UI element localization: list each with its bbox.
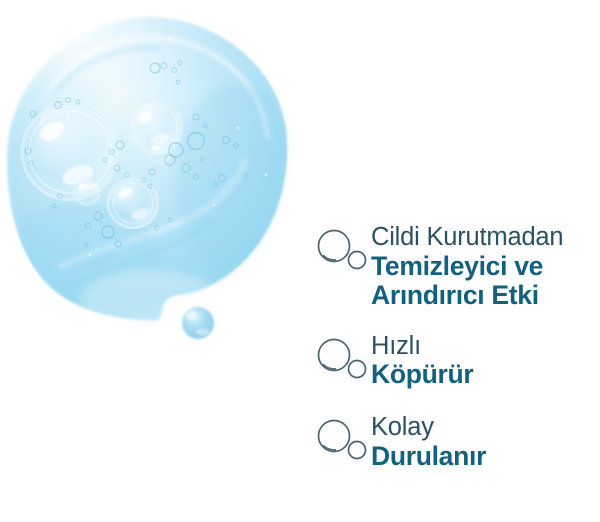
benefit-item-foaming: Hızlı Köpürür bbox=[313, 331, 600, 390]
benefit-regular-line: Hızlı bbox=[371, 332, 600, 361]
gel-droplet-illustration bbox=[0, 0, 300, 360]
product-benefits-poster: Cildi Kurutmadan Temizleyici ve Arındırı… bbox=[0, 0, 600, 522]
benefits-list: Cildi Kurutmadan Temizleyici ve Arındırı… bbox=[313, 222, 600, 471]
benefit-bold-line-2: Arındırıcı Etki bbox=[371, 281, 600, 311]
benefit-item-rinsing: Kolay Durulanır bbox=[313, 412, 600, 471]
benefit-regular-line: Kolay bbox=[371, 413, 600, 442]
benefit-text-block: Cildi Kurutmadan Temizleyici ve Arındırı… bbox=[371, 222, 600, 311]
bubbles-icon bbox=[313, 419, 369, 461]
benefit-regular-line: Cildi Kurutmadan bbox=[371, 223, 600, 252]
droplet-body bbox=[0, 0, 300, 330]
benefit-bold-line-1: Temizleyici ve bbox=[371, 252, 600, 282]
benefit-bold-line-1: Durulanır bbox=[371, 442, 600, 472]
bubbles-icon bbox=[313, 338, 369, 380]
benefit-bold-line-1: Köpürür bbox=[371, 360, 600, 390]
benefit-text-block: Kolay Durulanır bbox=[371, 412, 600, 471]
benefit-text-block: Hızlı Köpürür bbox=[371, 331, 600, 390]
bubbles-icon bbox=[313, 229, 369, 271]
small-droplet bbox=[182, 307, 214, 339]
benefit-item-cleansing: Cildi Kurutmadan Temizleyici ve Arındırı… bbox=[313, 222, 600, 311]
